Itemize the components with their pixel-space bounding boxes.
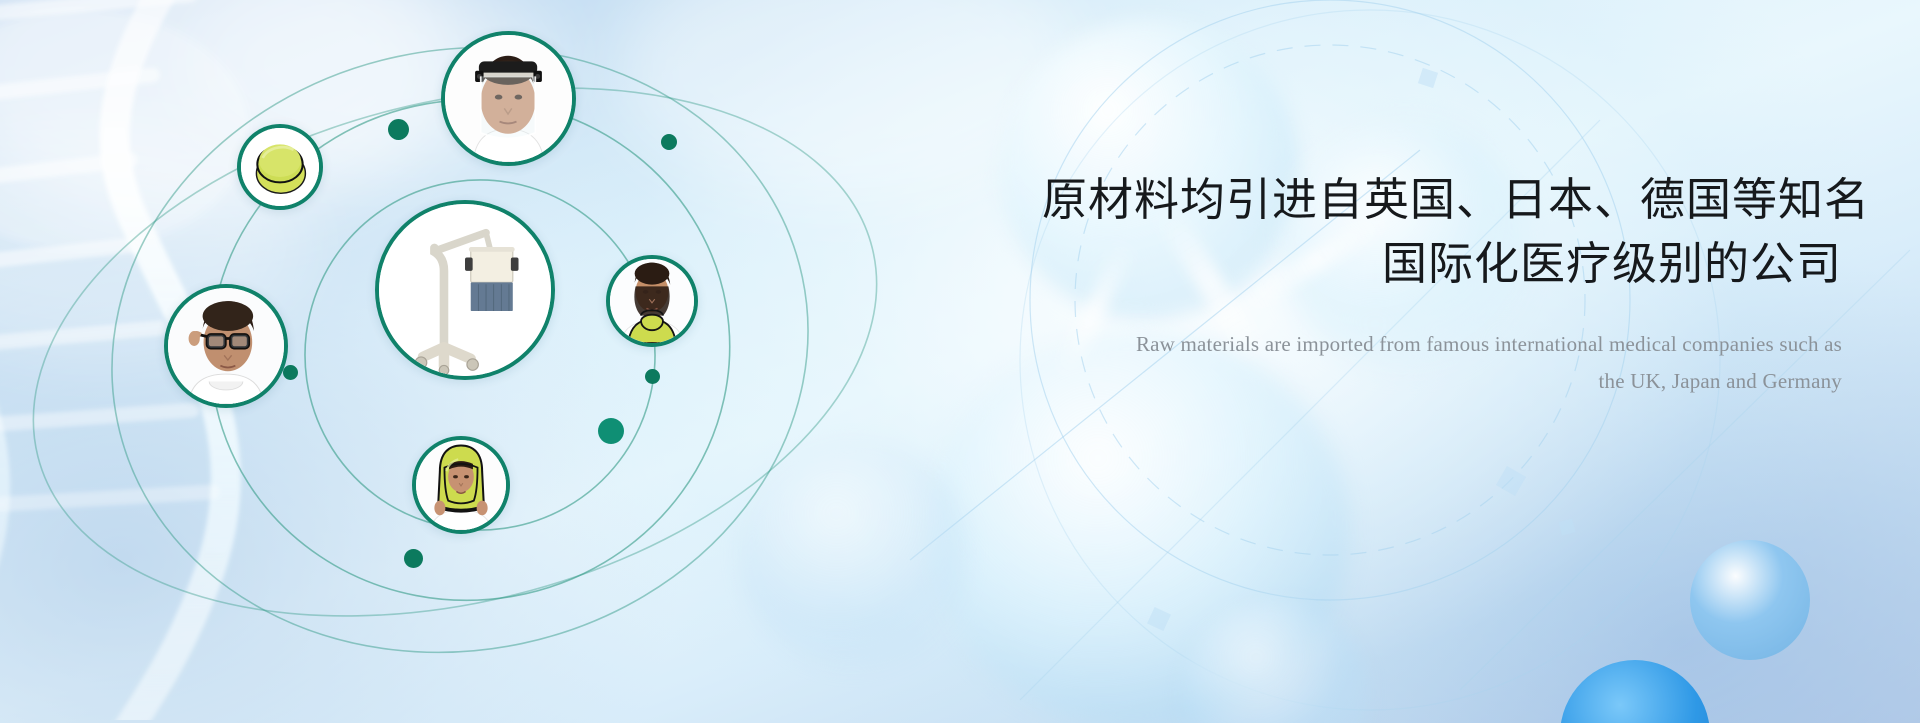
orbit-dot bbox=[645, 369, 660, 384]
page-title: 原材料均引进自英国、日本、德国等知名 国际化医疗级别的公司 bbox=[1042, 168, 1842, 296]
product-node-mobile-x-ray-barrier[interactable] bbox=[375, 200, 555, 380]
product-node-thyroid-collar[interactable] bbox=[606, 255, 698, 347]
hero-banner: 原材料均引进自英国、日本、德国等知名 国际化医疗级别的公司 Raw materi… bbox=[0, 0, 1920, 723]
hero-subtitle: Raw materials are imported from famous i… bbox=[1042, 326, 1842, 400]
thyroid-collar-icon bbox=[610, 259, 694, 343]
orbit-dot bbox=[283, 365, 298, 380]
mobile-x-ray-barrier-icon bbox=[379, 204, 551, 376]
headline-line-1: 原材料均引进自英国、日本、德国等知名 bbox=[1042, 174, 1870, 225]
headline-line-2: 国际化医疗级别的公司 bbox=[1042, 232, 1842, 296]
product-node-lead-glasses[interactable] bbox=[164, 284, 288, 408]
orbit-dot bbox=[661, 134, 677, 150]
face-shield-icon bbox=[445, 35, 572, 162]
product-node-lead-hood[interactable] bbox=[412, 436, 510, 534]
lead-glasses-icon bbox=[168, 288, 284, 404]
product-node-face-shield[interactable] bbox=[441, 31, 576, 166]
background-sphere bbox=[1560, 660, 1710, 723]
subtitle-line-1: Raw materials are imported from famous i… bbox=[1042, 326, 1842, 363]
lead-hood-icon bbox=[416, 440, 506, 530]
hero-text-block: 原材料均引进自英国、日本、德国等知名 国际化医疗级别的公司 Raw materi… bbox=[1042, 168, 1842, 399]
background-sphere bbox=[1180, 600, 1370, 723]
orbit-dot bbox=[388, 119, 409, 140]
orbit-dot bbox=[404, 549, 423, 568]
subtitle-line-2: the UK, Japan and Germany bbox=[1042, 363, 1842, 400]
orbit-dot bbox=[598, 418, 624, 444]
product-node-lead-cap[interactable] bbox=[237, 124, 323, 210]
background-sphere bbox=[1690, 540, 1810, 660]
lead-cap-icon bbox=[241, 128, 319, 206]
